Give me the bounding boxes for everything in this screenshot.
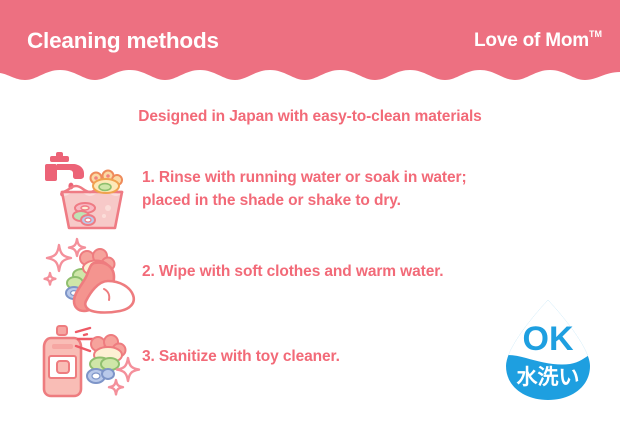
step-item-1: 1. Rinse with running water or soak in w… bbox=[38, 150, 467, 234]
badge-ok-text: OK bbox=[523, 320, 574, 358]
subtitle: Designed in Japan with easy-to-clean mat… bbox=[0, 108, 620, 126]
page-title: Cleaning methods bbox=[27, 28, 219, 54]
step-item-3: 3. Sanitize with toy cleaner. bbox=[38, 322, 340, 406]
water-washable-badge: OK 水洗い bbox=[496, 296, 600, 406]
badge-japanese-text: 水洗い bbox=[517, 365, 580, 389]
brand-name: Love of Mom bbox=[474, 30, 589, 51]
faucet-basin-icon bbox=[38, 150, 142, 234]
cleaning-methods-page: Cleaning methods Love of MomTM Designed … bbox=[0, 0, 620, 426]
cloth-wipe-icon bbox=[38, 237, 142, 321]
step-text-1: 1. Rinse with running water or soak in w… bbox=[142, 150, 467, 212]
step-text-2: 2. Wipe with soft clothes and warm water… bbox=[142, 237, 444, 283]
step-text-3: 3. Sanitize with toy cleaner. bbox=[142, 322, 340, 368]
step-item-2: 2. Wipe with soft clothes and warm water… bbox=[38, 237, 444, 321]
trademark-symbol: TM bbox=[589, 29, 602, 39]
spray-bottle-icon bbox=[38, 322, 142, 406]
brand-logo: Love of MomTM bbox=[474, 30, 602, 52]
page-header: Cleaning methods Love of MomTM bbox=[0, 0, 620, 90]
